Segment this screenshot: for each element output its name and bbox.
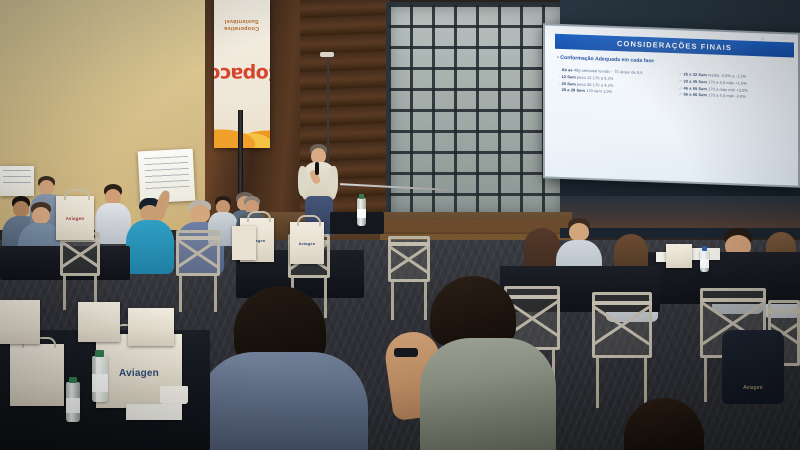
flipchart-lines [144, 156, 190, 189]
tote-bag [128, 308, 174, 346]
chair [176, 230, 220, 276]
water-bottle-foreground [66, 382, 80, 422]
aviagen-tote-bag: Aviagen [290, 222, 324, 264]
banner-brand: Copacol [214, 34, 270, 114]
tote-bag [78, 302, 120, 342]
bag-handle [64, 189, 89, 200]
bottle-cap [69, 377, 77, 383]
slide-columns: - Ab as 40g semanal levado - 70 alojar d… [559, 67, 792, 103]
flipchart-paper-left [0, 166, 34, 196]
slide-title: CONSIDERAÇÕES FINAIS [617, 39, 732, 52]
banner-brand-text: Copacol [214, 63, 270, 85]
bottle-cap [702, 246, 707, 251]
chair-rail [388, 242, 430, 246]
wristwatch [394, 348, 418, 357]
tote-bag [0, 300, 40, 344]
aviagen-backpack: Aviagen [722, 330, 784, 404]
slide-main-bullet-text: Conformação Adequada em cada fase [560, 55, 654, 64]
person-head [32, 207, 50, 224]
bag-handle [297, 215, 320, 226]
bag-handle [247, 211, 270, 222]
chair-rail [592, 301, 652, 305]
presenter-right-arm [329, 166, 338, 196]
foreground-person-right [386, 276, 556, 450]
audience-person-cap [126, 196, 174, 274]
aviagen-tote-bag: Aviagen [56, 196, 94, 240]
foreground-person-far-right [614, 398, 714, 450]
bottle-cap [95, 350, 104, 357]
water-bottle [357, 198, 366, 226]
slide-content: CONSIDERAÇÕES FINAIS Aviagen ▪ Conformaç… [545, 25, 798, 185]
foreground-person-left [198, 286, 368, 450]
presenter-left-arm [298, 166, 307, 196]
chair-rail [176, 236, 220, 240]
person-head [569, 223, 589, 241]
bottle-label [357, 209, 366, 218]
chair-rail [768, 309, 800, 313]
chair-leg [63, 276, 66, 310]
projection-screen: CONSIDERAÇÕES FINAIS Aviagen ▪ Conformaç… [543, 23, 800, 187]
tote-bag [666, 244, 692, 268]
slide-right-column: ✓ 25 a 32 Sem média -2,0% a -1,5% ✓ 33 a… [679, 71, 792, 102]
banner-tagline-line2: Sustentável [225, 18, 259, 24]
tote-bag [232, 226, 256, 260]
paper-cup [160, 386, 188, 404]
chair-leg [704, 358, 707, 402]
presentation-photo: Cooperativa Sustentável Copacol CONSIDER… [0, 0, 800, 450]
person-torso-teal [126, 220, 174, 274]
bottle-cap [359, 194, 364, 199]
person-head [39, 180, 54, 195]
slide-left-column: - Ab as 40g semanal levado - 70 alojar d… [559, 67, 672, 98]
chair-leg [596, 358, 599, 408]
chair-leg [179, 276, 182, 312]
water-bottle [700, 250, 709, 272]
bottle-label [92, 374, 108, 392]
flipchart-lines [3, 170, 30, 188]
aviagen-logo-text: Aviagen [767, 36, 788, 43]
backpack-logo-text: Aviagen [722, 385, 784, 391]
bottle-label [66, 398, 80, 413]
person-hair [624, 398, 704, 450]
banner-tagline-line1: Cooperativa [224, 25, 259, 31]
bag-brand-text: Aviagen [96, 368, 182, 379]
handheld-microphone [315, 162, 319, 175]
person-hair [430, 276, 516, 346]
chair [592, 292, 652, 358]
bottle-label [700, 259, 709, 268]
glass-block-frame [386, 2, 565, 218]
bag-brand-text: Aviagen [56, 216, 94, 221]
chair-rail [700, 298, 766, 302]
water-bottle-foreground [92, 356, 108, 402]
person-torso [198, 352, 368, 450]
person-torso [420, 338, 556, 450]
table-paper [126, 404, 182, 420]
tote-bag [10, 344, 64, 406]
bag-brand-text: Aviagen [290, 241, 324, 246]
aviagen-logo-slide: Aviagen [754, 31, 794, 46]
person-head [190, 205, 210, 223]
aviagen-mark-icon [760, 36, 766, 40]
